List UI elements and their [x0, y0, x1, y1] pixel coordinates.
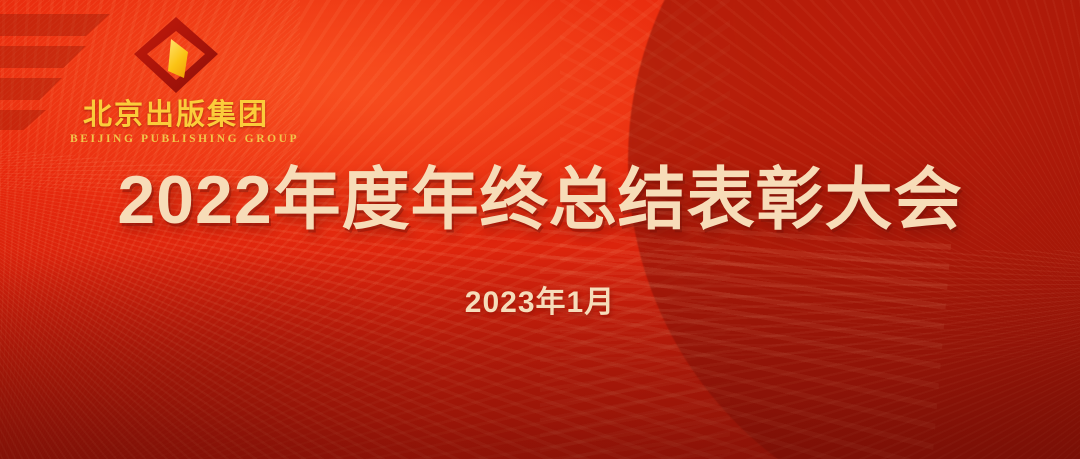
- subtitle-block: 2023年1月: [0, 288, 1080, 318]
- page-subtitle-date: 2023年1月: [0, 288, 1080, 318]
- page-title: 2022年度年终总结表彰大会: [0, 166, 1080, 234]
- event-banner: 北京出版集团 BEIJING PUBLISHING GROUP 2022年度年终…: [0, 0, 1080, 459]
- logo-name-chinese: 北京出版集团: [70, 100, 282, 130]
- diamond-logo-icon: [128, 14, 224, 96]
- logo-name-english: BEIJING PUBLISHING GROUP: [70, 133, 282, 145]
- organization-logo: 北京出版集团 BEIJING PUBLISHING GROUP: [70, 14, 282, 145]
- title-block: 2022年度年终总结表彰大会: [0, 166, 1080, 234]
- background-bottom-shade: [0, 249, 1080, 459]
